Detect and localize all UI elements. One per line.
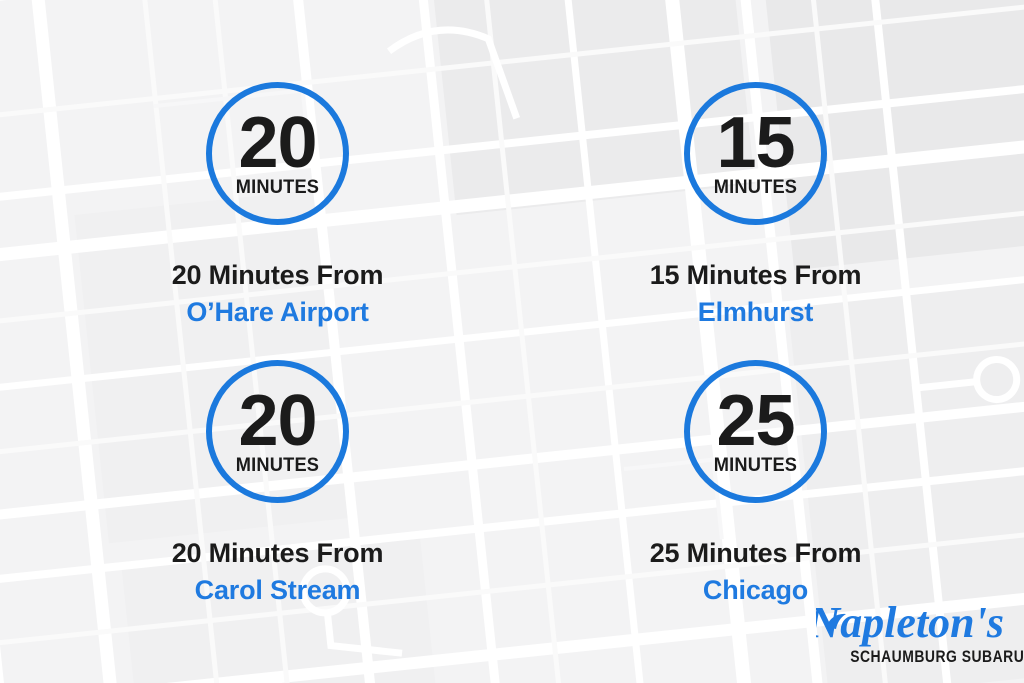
caption-location-line: O’Hare Airport (172, 297, 384, 328)
badge-unit-label: MINUTES (714, 455, 797, 477)
badge-number: 20 (238, 392, 316, 451)
minutes-badge-circle: 20 MINUTES (206, 82, 349, 225)
napletons-script-logo-icon: Napleton's (816, 597, 1006, 649)
caption-location-line: Elmhurst (650, 297, 862, 328)
caption-location-line: Carol Stream (172, 575, 384, 606)
badge-unit-label: MINUTES (714, 177, 797, 199)
drive-time-infographic: 20 MINUTES 20 Minutes From O’Hare Airpor… (0, 0, 1024, 683)
minutes-badge-circle: 15 MINUTES (684, 82, 827, 225)
badge-number: 25 (716, 392, 794, 451)
caption-duration-line: 20 Minutes From (172, 538, 384, 569)
drive-time-card-elmhurst: 15 MINUTES 15 Minutes From Elmhurst (527, 82, 1024, 360)
card-caption: 25 Minutes From Chicago (650, 538, 862, 605)
caption-duration-line: 20 Minutes From (172, 260, 384, 291)
badge-number: 15 (716, 114, 794, 173)
drive-time-card-ohare: 20 MINUTES 20 Minutes From O’Hare Airpor… (0, 82, 527, 360)
card-caption: 20 Minutes From Carol Stream (172, 538, 384, 605)
card-caption: 20 Minutes From O’Hare Airport (172, 260, 384, 327)
logo-subtitle: SCHAUMBURG SUBARU (850, 647, 1006, 667)
svg-text:Napleton's: Napleton's (816, 598, 1004, 647)
caption-duration-line: 15 Minutes From (650, 260, 862, 291)
minutes-badge-circle: 20 MINUTES (206, 360, 349, 503)
card-caption: 15 Minutes From Elmhurst (650, 260, 862, 327)
caption-duration-line: 25 Minutes From (650, 538, 862, 569)
minutes-badge-circle: 25 MINUTES (684, 360, 827, 503)
drive-time-card-carol-stream: 20 MINUTES 20 Minutes From Carol Stream (0, 360, 527, 638)
badge-unit-label: MINUTES (236, 177, 319, 199)
badge-unit-label: MINUTES (236, 455, 319, 477)
drive-time-card-grid: 20 MINUTES 20 Minutes From O’Hare Airpor… (0, 0, 1024, 683)
dealership-logo[interactable]: Napleton's SCHAUMBURG SUBARU (816, 597, 1006, 667)
badge-number: 20 (238, 114, 316, 173)
